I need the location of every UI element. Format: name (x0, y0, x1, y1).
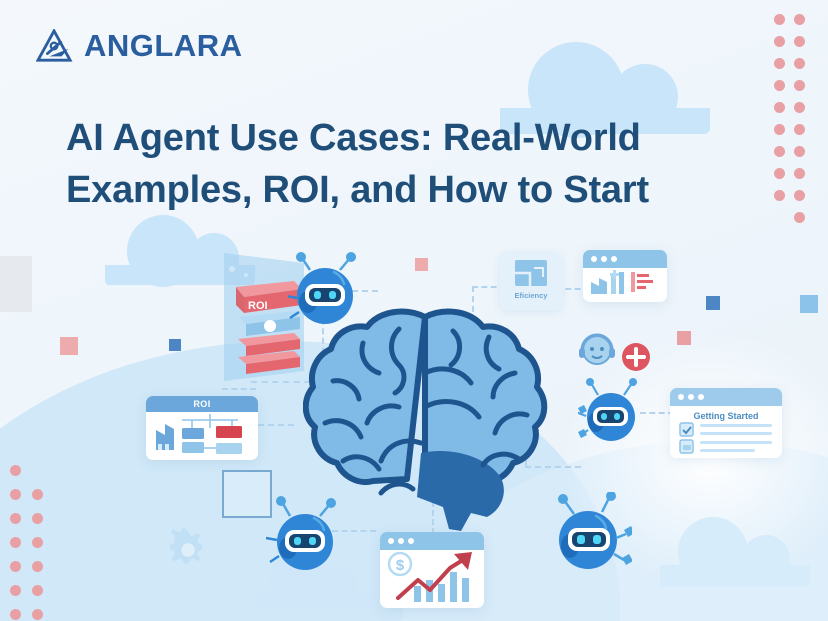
connector-line (222, 388, 256, 390)
card-growth[interactable]: $ (380, 532, 484, 608)
factory-bar-chart-icon (583, 268, 667, 302)
card-dashboard[interactable] (583, 250, 667, 302)
card-getting-started-title: Getting Started (670, 411, 782, 421)
plus-circle-icon[interactable] (621, 342, 651, 372)
window-dot (698, 394, 704, 400)
robot-head-mid-right (578, 378, 644, 446)
card-efficiency-label: Eficiency (515, 291, 548, 300)
card-roi-flow-label: ROI (146, 396, 258, 412)
connector-line (640, 412, 674, 414)
illustration: ROI Eficien (0, 0, 828, 621)
connector-line (258, 424, 294, 426)
card-roi-flow[interactable]: ROI (146, 396, 258, 460)
window-dot (678, 394, 684, 400)
window-dot (611, 256, 617, 262)
robot-head-bottom-right (548, 492, 632, 578)
robot-head-top-left (288, 252, 362, 330)
window-dot (688, 394, 694, 400)
resize-window-icon (514, 259, 548, 287)
svg-text:$: $ (396, 557, 405, 574)
window-title-bar (583, 250, 667, 268)
window-dot (408, 538, 414, 544)
factory-flowchart-icon (146, 412, 258, 458)
checklist-icon (670, 421, 782, 457)
card-efficiency[interactable]: Eficiency (500, 252, 562, 310)
card-getting-started[interactable]: Getting Started (670, 388, 782, 458)
window-dot (388, 538, 394, 544)
robot-head-bottom-left (266, 496, 344, 578)
banner-graphic: ANGLARA AI Agent Use Cases: Real-World E… (0, 0, 828, 621)
window-dot (591, 256, 597, 262)
window-dot (398, 538, 404, 544)
support-headset-avatar-icon (577, 330, 617, 370)
dollar-growth-chart-icon: $ (380, 550, 484, 606)
svg-text:ROI: ROI (248, 300, 268, 312)
window-dot (601, 256, 607, 262)
window-title-bar (670, 388, 782, 406)
window-title-bar (380, 532, 484, 550)
